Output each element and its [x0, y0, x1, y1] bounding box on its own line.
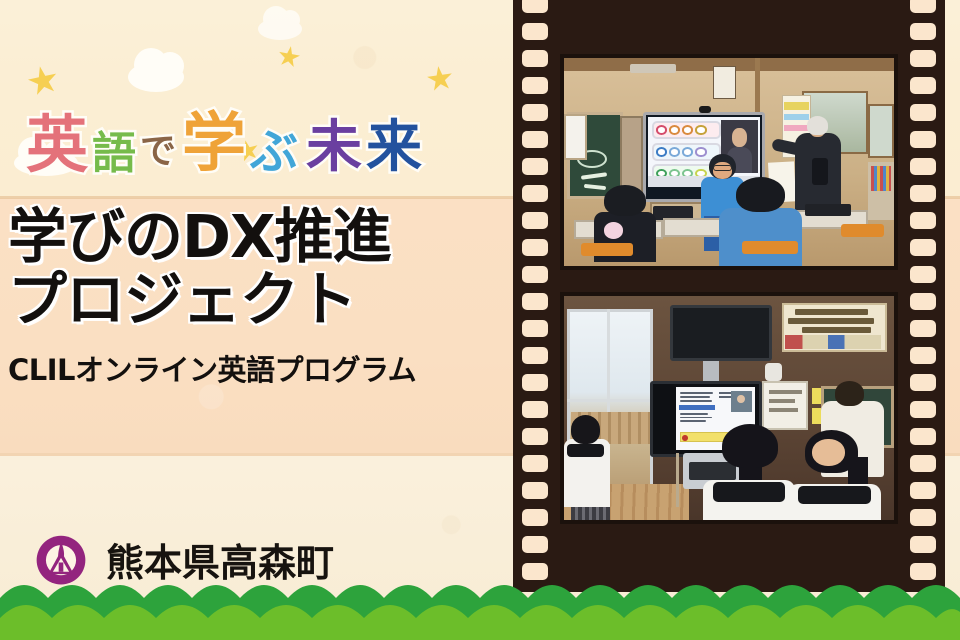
small-whiteboard — [762, 381, 808, 430]
film-perforation — [910, 509, 936, 526]
slide-text-line — [680, 396, 710, 398]
film-perforation — [910, 482, 936, 499]
headline-seg-bu: ぶ — [250, 128, 298, 176]
film-perforations-right — [905, 0, 941, 592]
film-perforation — [522, 0, 548, 13]
film-perforation — [910, 266, 936, 283]
film-perforation — [910, 536, 936, 553]
film-perforation — [522, 50, 548, 67]
wall-speaker — [765, 363, 782, 381]
window-mullion — [567, 399, 653, 402]
film-perforation — [910, 185, 936, 202]
film-perforation — [522, 239, 548, 256]
headline-seg-de: で — [140, 134, 176, 170]
headline-handwriting: 英 語 で 学 ぶ 未 来 — [26, 92, 486, 176]
film-perforation — [522, 509, 548, 526]
poster-text-line — [802, 327, 871, 333]
laptop — [805, 204, 851, 216]
film-perforation — [522, 401, 548, 418]
page-title: 学びのDX推進 プロジェクト CLILオンライン英語プログラム — [8, 206, 508, 389]
film-perforation — [522, 104, 548, 121]
film-perforation — [522, 428, 548, 445]
whiteboard-writing — [769, 408, 799, 412]
film-perforation — [522, 320, 548, 337]
film-perforation — [910, 50, 936, 67]
notice-strip-blue — [784, 114, 808, 120]
student-hair — [722, 424, 778, 469]
whiteboard-screen — [648, 117, 760, 186]
film-perforation — [910, 239, 936, 256]
film-perforation — [522, 131, 548, 148]
headline-seg-go: 語 — [92, 132, 136, 176]
tv-mount-arm — [703, 361, 720, 383]
student-glasses-icon — [713, 165, 733, 171]
slide-text-line — [680, 420, 706, 422]
film-perforation — [522, 185, 548, 202]
sticky-note — [812, 408, 822, 424]
film-perforation — [910, 23, 936, 40]
photo-elementary-classroom — [564, 58, 894, 266]
laptop — [689, 462, 735, 480]
headline-seg-eigo: 英 — [26, 114, 88, 176]
sailor-collar — [713, 482, 786, 502]
film-perforation — [910, 77, 936, 94]
remote-teacher-face — [732, 128, 747, 147]
cable — [676, 453, 679, 507]
sailor-collar — [567, 444, 603, 457]
film-perforation — [522, 374, 548, 391]
headline-seg-mirai2: 来 — [366, 120, 422, 176]
film-perforation — [522, 77, 548, 94]
student-chair — [841, 224, 884, 236]
notice-strip-yellow — [784, 102, 808, 110]
poster-text-line — [795, 309, 868, 315]
film-perforation — [910, 104, 936, 121]
film-perforation — [910, 212, 936, 229]
teacher-pouch — [812, 158, 829, 185]
film-perforation — [910, 0, 936, 13]
lesson-chip — [656, 125, 667, 135]
film-perforation — [522, 266, 548, 283]
page-subtitle: CLILオンライン英語プログラム — [8, 347, 508, 389]
grass-icon — [0, 570, 960, 640]
film-perforation — [910, 131, 936, 148]
sailor-collar — [798, 486, 871, 504]
title-line-1: 学びのDX推進 — [8, 206, 508, 267]
film-perforation — [522, 158, 548, 175]
film-perforation — [910, 158, 936, 175]
film-perforation — [910, 320, 936, 337]
lesson-chip — [669, 125, 680, 135]
slide-text-line — [680, 392, 713, 395]
slide-flag-icon — [682, 435, 688, 441]
photo-frame-top — [560, 54, 898, 270]
ceiling-speaker — [630, 64, 676, 73]
lesson-chip — [695, 147, 706, 157]
whiteboard-writing — [769, 390, 802, 394]
film-perforation — [522, 212, 548, 229]
photo-frame-bottom — [560, 292, 898, 524]
lesson-slide-row — [652, 121, 721, 139]
lesson-chip — [682, 125, 693, 135]
lesson-chip — [669, 147, 680, 157]
student-seated-body — [719, 208, 802, 266]
film-perforation — [522, 455, 548, 472]
student-shirt-print — [604, 222, 624, 239]
student-chair — [581, 243, 634, 255]
film-perforation — [522, 536, 548, 553]
poster-canvas: 英 語 で 学 ぶ 未 来 学びのDX推進 プロジェクト CLILオンライン英語… — [0, 0, 960, 640]
slide-text-line — [680, 400, 711, 402]
photo-junior-high-classroom — [564, 296, 894, 520]
film-perforation — [522, 482, 548, 499]
film-perforation — [910, 374, 936, 391]
student-seated-hair — [736, 177, 786, 212]
video-call-tile — [731, 391, 751, 412]
wall-mounted-tv — [670, 305, 772, 361]
cloud-icon — [128, 62, 184, 92]
remote-teacher-face — [737, 395, 745, 404]
whiteboard-writing — [769, 399, 795, 403]
lesson-chip — [682, 147, 693, 157]
film-perforation — [910, 455, 936, 472]
headline-seg-manabu: 学 — [182, 112, 246, 176]
book-row — [871, 166, 891, 191]
film-perforations-left — [517, 0, 553, 592]
film-strip-icon — [513, 0, 945, 592]
film-perforation — [910, 428, 936, 445]
lesson-chip — [656, 147, 667, 157]
poster-text-line — [788, 318, 874, 324]
film-perforation — [910, 401, 936, 418]
webcam-icon — [699, 106, 711, 113]
film-perforation — [910, 347, 936, 364]
headline-seg-mirai1: 未 — [306, 120, 362, 176]
teacher-hair — [807, 116, 828, 135]
film-perforation — [522, 23, 548, 40]
student-chair — [742, 241, 798, 253]
slide-highlight — [679, 405, 715, 409]
notice-strip-pink — [784, 125, 808, 131]
student-face — [812, 439, 845, 466]
whiteboard-small — [564, 114, 587, 160]
sticky-note — [812, 388, 822, 404]
wall-poster — [713, 66, 736, 99]
poster-decoration — [785, 335, 881, 348]
cloud-icon — [258, 18, 302, 40]
lesson-chip — [695, 125, 706, 135]
film-perforation — [910, 293, 936, 310]
teacher-hair — [835, 381, 865, 406]
title-line-2: プロジェクト — [8, 269, 508, 330]
film-perforation — [522, 293, 548, 310]
classroom-window-right — [868, 104, 894, 158]
student-hair — [571, 415, 601, 444]
student-seated-hair — [604, 185, 647, 216]
film-perforation — [522, 347, 548, 364]
slide-text-line — [680, 413, 708, 415]
slide-text-line — [680, 417, 712, 419]
